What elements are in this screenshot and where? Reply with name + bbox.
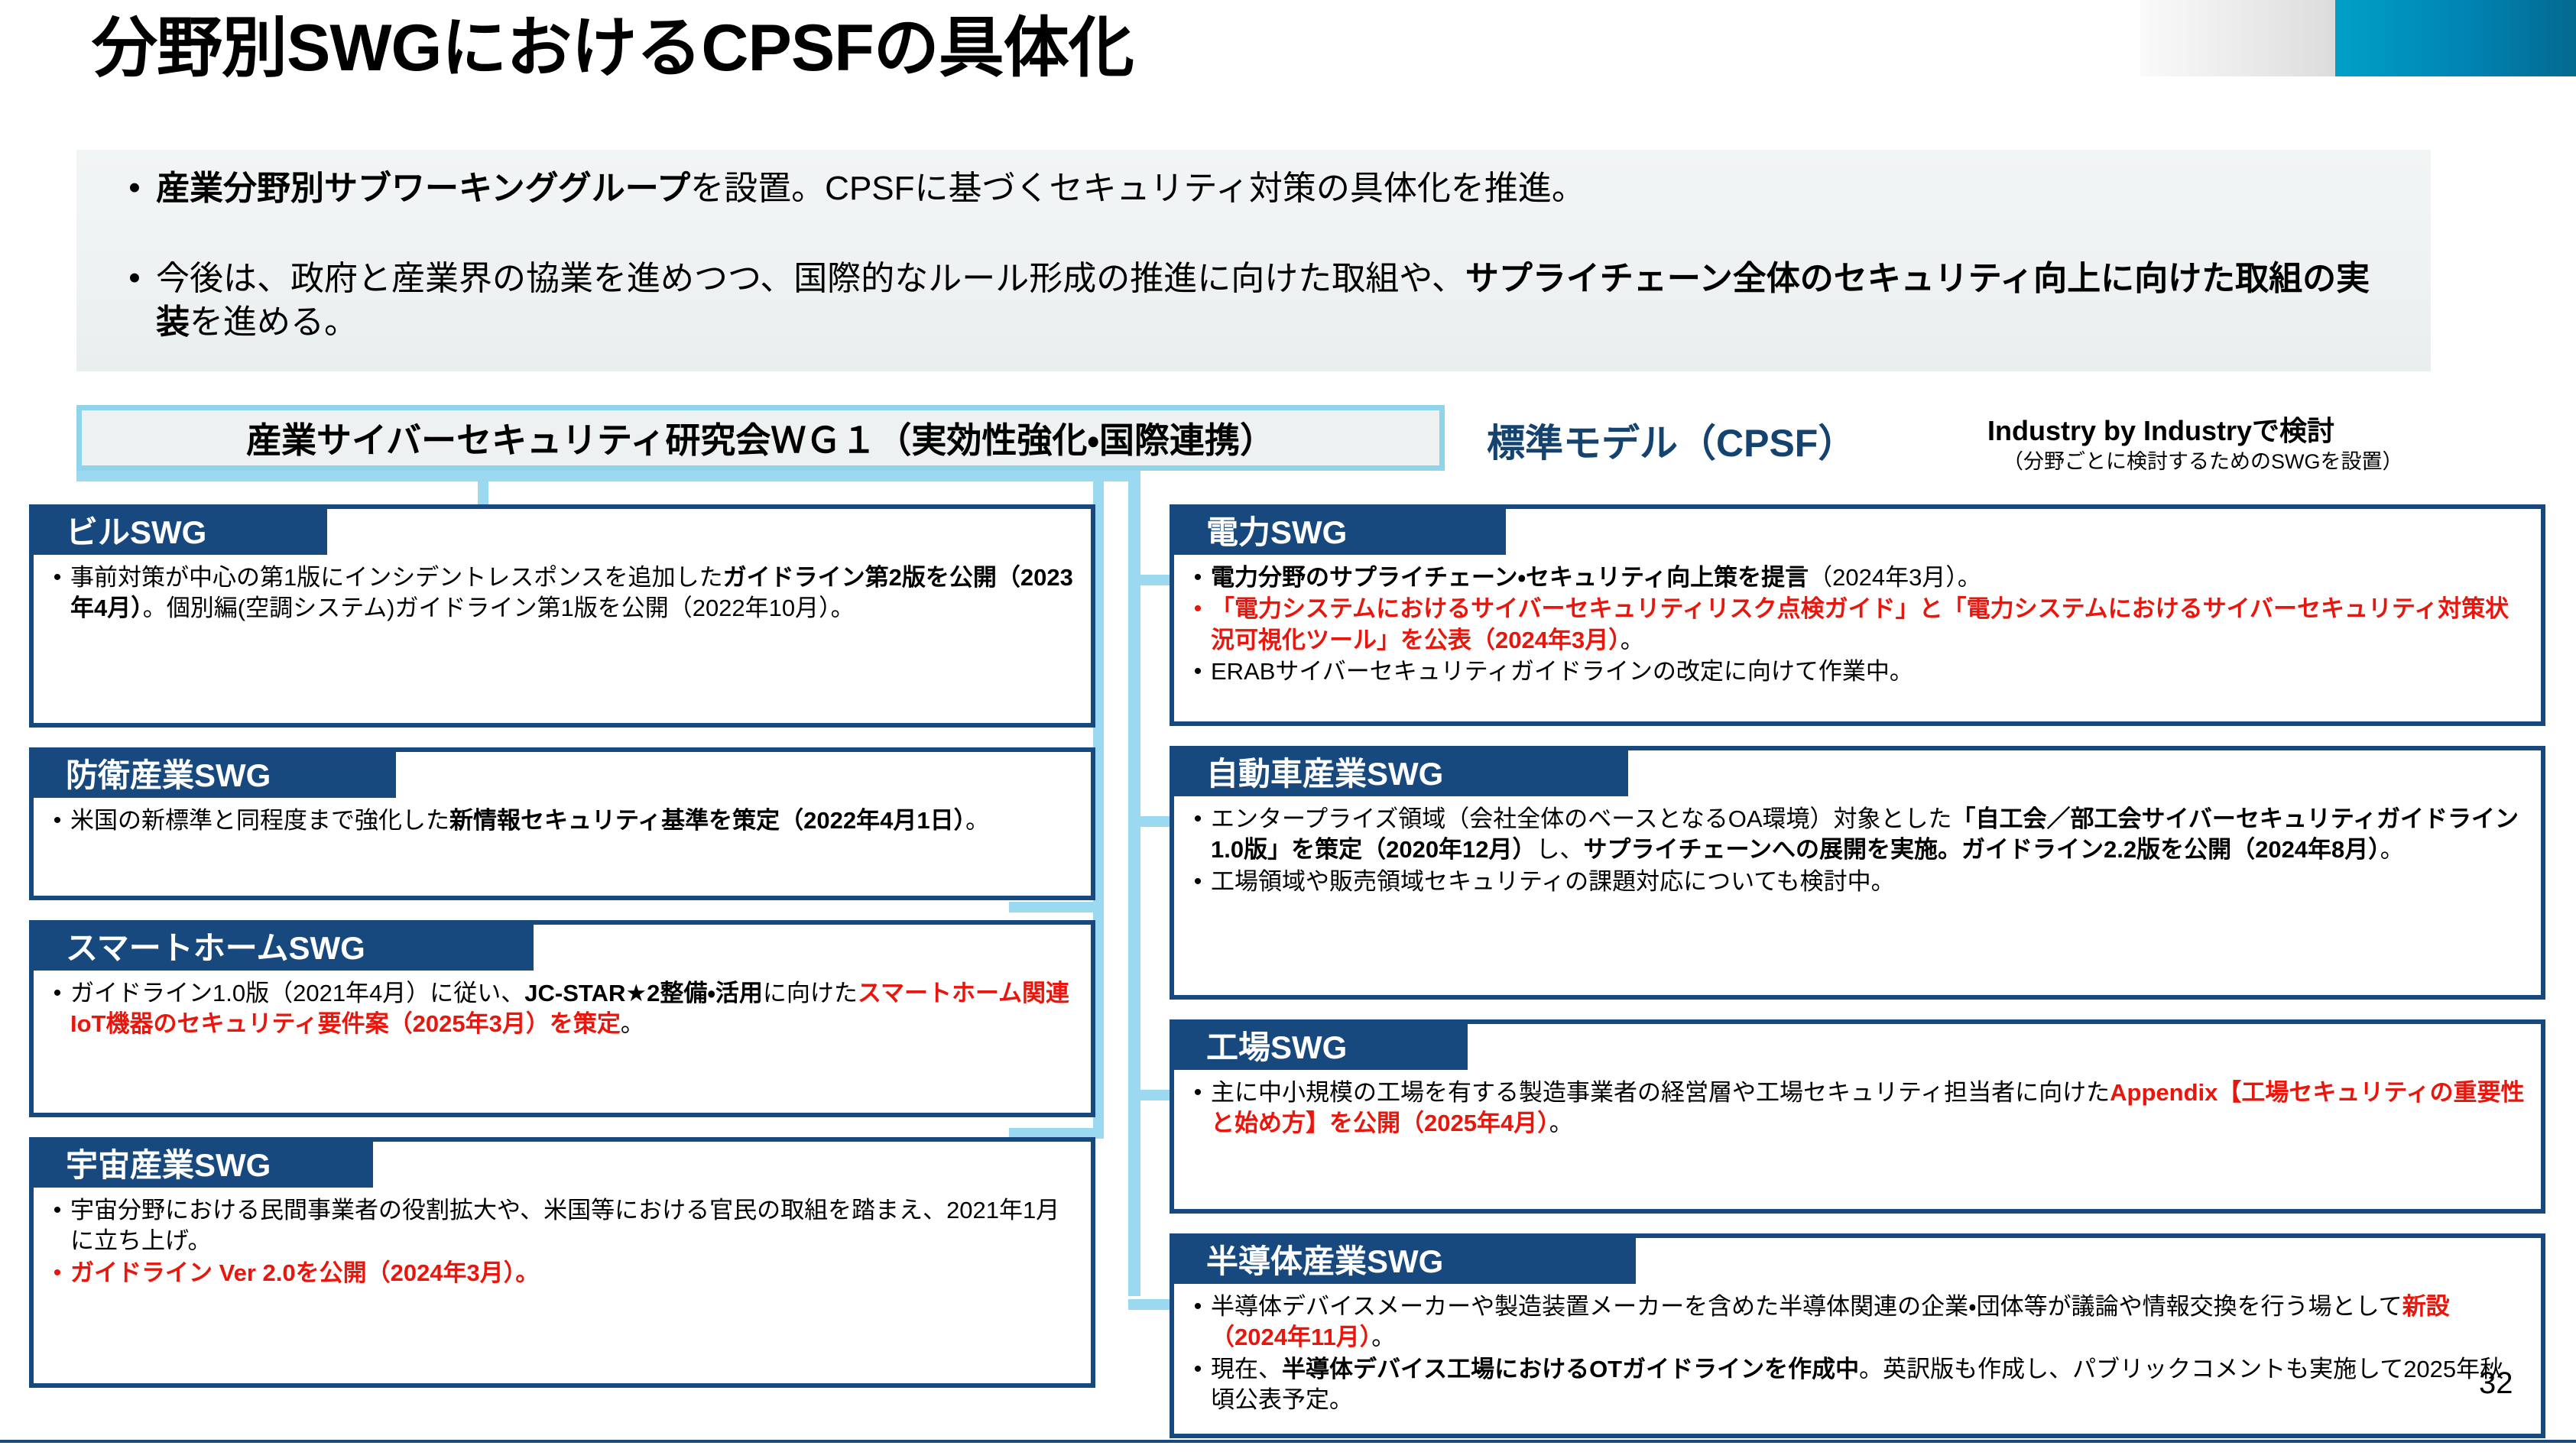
swg-card-right-1: 自動車産業SWG•エンタープライズ領域（会社全体のベースとなるOA環境）対象とし…	[1170, 746, 2545, 1000]
bullet-marker-icon: •	[113, 167, 156, 209]
swg-bullet-item: •米国の新標準と同程度まで強化した新情報セキュリティ基準を策定（2022年4月1…	[44, 805, 1075, 836]
swg-bullet-item: •現在、半導体デバイス工場におけるOTガイドラインを作成中。英訳版も作成し、パブ…	[1185, 1354, 2526, 1416]
swg-bullet-segment: 工場領域や販売領域セキュリティの課題対応についても検討中。	[1211, 868, 1895, 895]
bullet-marker-icon: •	[1185, 867, 1211, 896]
bullet-marker-icon: •	[1185, 562, 1211, 592]
summary-bullet-2-tail: を進める。	[190, 303, 358, 341]
swg-bullet-text: ERABサイバーセキュリティガイドラインの改定に向けて作業中。	[1211, 656, 2526, 687]
swg-card-title-tab: スマートホームSWG	[29, 920, 534, 971]
swg-card-title-tab: 工場SWG	[1170, 1019, 1468, 1070]
summary-bullet-2: • 今後は、政府と産業界の協業を進めつつ、国際的なルール形成の推進に向けた取組や…	[113, 257, 2400, 344]
swg-card-title: 電力SWG	[1206, 507, 1347, 553]
bullet-marker-icon: •	[44, 1258, 70, 1288]
summary-bullet-1: • 産業分野別サブワーキンググループを設置。CPSFに基づくセキュリティ対策の具…	[113, 167, 2400, 210]
cpsf-model-label: 標準モデル（CPSF）	[1487, 413, 1856, 468]
swg-card-right-3: 半導体産業SWG•半導体デバイスメーカーや製造装置メーカーを含めた半導体関連の企…	[1170, 1233, 2545, 1438]
bullet-marker-icon: •	[44, 805, 70, 835]
swg-bullet-item: •主に中小規模の工場を有する製造事業者の経営層や工場セキュリティ担当者に向けたA…	[1185, 1078, 2526, 1139]
swg-bullet-item: •「電力システムにおけるサイバーセキュリティリスク点検ガイド」と「電力システムに…	[1185, 594, 2526, 656]
swg-bullet-segment: 現在、	[1211, 1356, 1282, 1382]
swg-bullet-segment: 。	[621, 1010, 644, 1037]
swg-bullet-segment: 半導体デバイス工場におけるOTガイドラインを作成中	[1282, 1356, 1859, 1382]
summary-bullet-1-bold: 産業分野別サブワーキンググループ	[156, 170, 690, 207]
connector-line-1	[478, 471, 488, 507]
connector-line-4	[1128, 816, 1170, 827]
swg-bullet-text: 「電力システムにおけるサイバーセキュリティリスク点検ガイド」と「電力システムにお…	[1211, 594, 2526, 656]
swg-bullet-text: エンタープライズ領域（会社全体のベースとなるOA環境）対象とした「自工会／部工会…	[1211, 804, 2526, 866]
swg-bullet-segment: 。個別編(空調システム)ガイドライン第1版を公開（2022年10月）。	[143, 595, 855, 621]
swg-card-body: •エンタープライズ領域（会社全体のベースとなるOA環境）対象とした「自工会／部工…	[1174, 798, 2541, 903]
swg-card-right-0: 電力SWG•電力分野のサプライチェーン・セキュリティ向上策を提言（2024年3月…	[1170, 504, 2545, 726]
swg-bullet-item: •エンタープライズ領域（会社全体のベースとなるOA環境）対象とした「自工会／部工…	[1185, 804, 2526, 866]
swg-bullet-segment: 。	[1549, 1110, 1573, 1136]
bullet-marker-icon: •	[1185, 1354, 1211, 1384]
swg-card-title-tab: 電力SWG	[1170, 504, 1506, 555]
swg-bullet-segment: 主に中小規模の工場を有する製造事業者の経営層や工場セキュリティ担当者に向けた	[1211, 1079, 2110, 1106]
swg-bullet-segment: 米国の新標準と同程度まで強化した	[70, 807, 449, 834]
swg-bullet-segment: 。	[2380, 836, 2404, 863]
swg-bullet-segment: 新情報セキュリティ基準を策定（2022年4月1日）	[449, 807, 965, 834]
industry-by-industry-sublabel: （分野ごとに検討するためのSWGを設置）	[2003, 445, 2403, 475]
swg-card-title-tab: 防衛産業SWG	[29, 747, 396, 798]
swg-card-body: •ガイドライン1.0版（2021年4月）に従い、JC-STAR★2整備・活用に向…	[34, 972, 1091, 1045]
connector-line-3	[1128, 575, 1170, 585]
swg-bullet-item: •ERABサイバーセキュリティガイドラインの改定に向けて作業中。	[1185, 656, 2526, 687]
swg-card-right-2: 工場SWG•主に中小規模の工場を有する製造事業者の経営層や工場セキュリティ担当者…	[1170, 1019, 2545, 1214]
swg-card-body: •米国の新標準と同程度まで強化した新情報セキュリティ基準を策定（2022年4月1…	[34, 799, 1091, 841]
summary-bullet-2-lead: 今後は、政府と産業界の協業を進めつつ、国際的なルール形成の推進に向けた取組や、	[156, 260, 1465, 297]
swg-bullet-segment: 「電力システムにおけるサイバーセキュリティリスク点検ガイド」と「電力システムにお…	[1211, 595, 2509, 653]
swg-bullet-text: 事前対策が中心の第1版にインシデントレスポンスを追加したガイドライン第2版を公開…	[70, 562, 1075, 624]
page-title: 分野別SWGにおけるCPSFの具体化	[92, 14, 2079, 83]
swg-card-title: 防衛産業SWG	[66, 750, 271, 796]
swg-card-title-tab: 半導体産業SWG	[1170, 1233, 1636, 1284]
swg-card-title-tab: 宇宙産業SWG	[29, 1137, 373, 1188]
swg-card-left-2: スマートホームSWG•ガイドライン1.0版（2021年4月）に従い、JC-STA…	[29, 920, 1095, 1117]
swg-bullet-segment: 電力分野のサプライチェーン・セキュリティ向上策を提言	[1211, 564, 1809, 591]
swg-bullet-item: •ガイドライン Ver 2.0を公開（2024年3月）。	[44, 1258, 1075, 1288]
swg-card-body: •事前対策が中心の第1版にインシデントレスポンスを追加したガイドライン第2版を公…	[34, 556, 1091, 630]
swg-card-title-tab: 自動車産業SWG	[1170, 746, 1628, 796]
swg-card-title: 工場SWG	[1206, 1022, 1347, 1068]
swg-bullet-text: ガイドライン Ver 2.0を公開（2024年3月）。	[70, 1258, 1075, 1288]
swg-card-body: •半導体デバイスメーカーや製造装置メーカーを含めた半導体関連の企業・団体等が議論…	[1174, 1285, 2541, 1421]
swg-card-body: •電力分野のサプライチェーン・セキュリティ向上策を提言（2024年3月）。•「電…	[1174, 556, 2541, 692]
swg-bullet-segment: 半導体デバイスメーカーや製造装置メーカーを含めた半導体関連の企業・団体等が議論や…	[1211, 1293, 2402, 1320]
swg-bullet-text: ガイドライン1.0版（2021年4月）に従い、JC-STAR★2整備・活用に向け…	[70, 978, 1075, 1040]
swg-bullet-text: 宇宙分野における民間事業者の役割拡大や、米国等における官民の取組を踏まえ、202…	[70, 1195, 1075, 1257]
swg-bullet-segment: 宇宙分野における民間事業者の役割拡大や、米国等における官民の取組を踏まえ、202…	[70, 1197, 1059, 1254]
connector-line-0	[76, 471, 1139, 481]
swg-bullet-item: •事前対策が中心の第1版にインシデントレスポンスを追加したガイドライン第2版を公…	[44, 562, 1075, 624]
bullet-marker-icon: •	[1185, 1292, 1211, 1321]
swg-bullet-segment: ガイドライン1.0版（2021年4月）に従い、	[70, 980, 524, 1006]
swg-bullet-text: 半導体デバイスメーカーや製造装置メーカーを含めた半導体関連の企業・団体等が議論や…	[1211, 1292, 2526, 1353]
swg-bullet-segment: サプライチェーンへの展開を実施。ガイドライン2.2版を公開（2024年8月）	[1584, 836, 2380, 863]
swg-card-title: ビルSWG	[66, 507, 206, 553]
swg-card-title: 宇宙産業SWG	[66, 1139, 271, 1186]
swg-bullet-segment: 。	[1371, 1324, 1395, 1350]
swg-bullet-text: 現在、半導体デバイス工場におけるOTガイドラインを作成中。英訳版も作成し、パブリ…	[1211, 1354, 2526, 1416]
swg-bullet-segment: 。	[965, 807, 989, 834]
swg-card-left-3: 宇宙産業SWG•宇宙分野における民間事業者の役割拡大や、米国等における官民の取組…	[29, 1137, 1095, 1388]
bullet-marker-icon: •	[44, 562, 70, 592]
swg-bullet-segment: に向けた	[763, 980, 858, 1006]
swg-bullet-item: •工場領域や販売領域セキュリティの課題対応についても検討中。	[1185, 867, 2526, 897]
connector-line-2	[1128, 471, 1140, 1296]
swg-bullet-segment: 。	[1621, 627, 1644, 653]
swg-card-title: 半導体産業SWG	[1206, 1236, 1443, 1282]
swg-card-title: 自動車産業SWG	[1206, 748, 1443, 795]
bottom-rule	[0, 1440, 2576, 1443]
swg-card-body: •宇宙分野における民間事業者の役割拡大や、米国等における官民の取組を踏まえ、20…	[34, 1189, 1091, 1294]
swg-bullet-item: •半導体デバイスメーカーや製造装置メーカーを含めた半導体関連の企業・団体等が議論…	[1185, 1292, 2526, 1353]
connector-line-5	[1128, 1090, 1170, 1100]
swg-bullet-item: •ガイドライン1.0版（2021年4月）に従い、JC-STAR★2整備・活用に向…	[44, 978, 1075, 1040]
swg-bullet-text: 電力分野のサプライチェーン・セキュリティ向上策を提言（2024年3月）。	[1211, 562, 2526, 593]
bullet-marker-icon: •	[1185, 1078, 1211, 1107]
swg-bullet-segment: エンタープライズ領域（会社全体のベースとなるOA環境）対象とした	[1211, 805, 1952, 832]
summary-bullet-2-text: 今後は、政府と産業界の協業を進めつつ、国際的なルール形成の推進に向けた取組や、サ…	[156, 257, 2400, 344]
swg-bullet-text: 米国の新標準と同程度まで強化した新情報セキュリティ基準を策定（2022年4月1日…	[70, 805, 1075, 836]
swg-card-title: スマートホームSWG	[66, 922, 365, 969]
swg-bullet-text: 工場領域や販売領域セキュリティの課題対応についても検討中。	[1211, 867, 2526, 897]
connector-line-8	[1009, 902, 1104, 912]
swg-bullet-segment: 事前対策が中心の第1版にインシデントレスポンスを追加した	[70, 564, 723, 591]
swg-bullet-segment: ERABサイバーセキュリティガイドラインの改定に向けて作業中。	[1211, 658, 1913, 685]
swg-card-body: •主に中小規模の工場を有する製造事業者の経営層や工場セキュリティ担当者に向けたA…	[1174, 1071, 2541, 1145]
summary-bullet-1-text: 産業分野別サブワーキンググループを設置。CPSFに基づくセキュリティ対策の具体化…	[156, 167, 2400, 210]
swg-bullet-segment: し、	[1536, 836, 1584, 863]
bullet-marker-icon: •	[44, 978, 70, 1008]
swg-bullet-segment: JC-STAR★2整備・活用	[524, 980, 763, 1006]
bullet-marker-icon: •	[1185, 804, 1211, 834]
bullet-marker-icon: •	[1185, 594, 1211, 624]
header-decoration-grey	[2140, 0, 2335, 76]
page-number: 32	[2479, 1366, 2513, 1401]
header-decoration-blue	[2335, 0, 2576, 76]
bullet-marker-icon: •	[44, 1195, 70, 1225]
swg-card-title-tab: ビルSWG	[29, 504, 327, 555]
swg-bullet-item: •電力分野のサプライチェーン・セキュリティ向上策を提言（2024年3月）。	[1185, 562, 2526, 593]
swg-card-left-1: 防衛産業SWG•米国の新標準と同程度まで強化した新情報セキュリティ基準を策定（2…	[29, 747, 1095, 900]
wg1-label: 産業サイバーセキュリティ研究会ＷＧ１（実効性強化・国際連携）	[246, 413, 1275, 463]
swg-card-left-0: ビルSWG•事前対策が中心の第1版にインシデントレスポンスを追加したガイドライン…	[29, 504, 1095, 728]
swg-bullet-text: 主に中小規模の工場を有する製造事業者の経営層や工場セキュリティ担当者に向けたAp…	[1211, 1078, 2526, 1139]
swg-bullet-segment: ガイドライン Ver 2.0を公開（2024年3月）。	[70, 1259, 539, 1286]
wg1-header-box: 産業サイバーセキュリティ研究会ＷＧ１（実効性強化・国際連携）	[76, 405, 1445, 471]
bullet-marker-icon: •	[113, 257, 156, 299]
connector-line-6	[1128, 1299, 1170, 1310]
industry-by-industry-label: Industry by Industryで検討	[1987, 409, 2334, 449]
bullet-marker-icon: •	[1185, 656, 1211, 686]
summary-bullet-1-rest: を設置。CPSFに基づくセキュリティ対策の具体化を推進。	[690, 170, 1585, 207]
summary-box: • 産業分野別サブワーキンググループを設置。CPSFに基づくセキュリティ対策の具…	[76, 150, 2431, 371]
swg-bullet-segment: （2024年3月）。	[1809, 564, 1981, 591]
swg-bullet-item: •宇宙分野における民間事業者の役割拡大や、米国等における官民の取組を踏まえ、20…	[44, 1195, 1075, 1257]
